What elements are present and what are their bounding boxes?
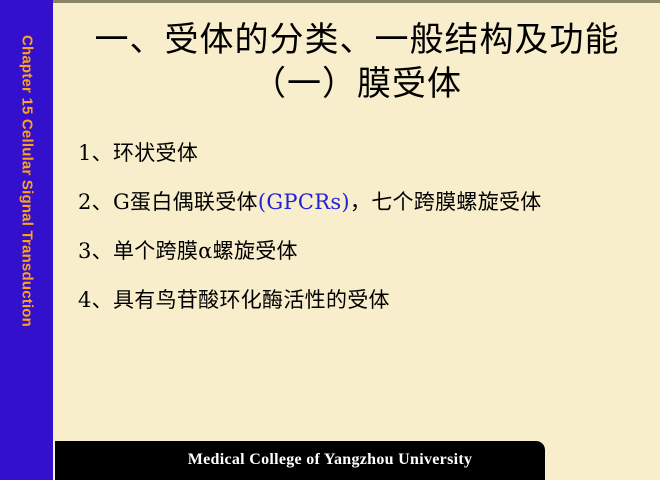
chapter-sidebar-label: Chapter 15 Cellular Signal Transduction bbox=[18, 35, 35, 327]
list-item: 3、单个跨膜α螺旋受体 bbox=[78, 235, 648, 284]
slide-title-line-2: （一）膜受体 bbox=[57, 62, 657, 106]
footer-institution-name: Medical College of Yangzhou University bbox=[55, 441, 545, 480]
list-item: 2、G蛋白偶联受体(GPCRs)，七个跨膜螺旋受体 bbox=[78, 186, 648, 235]
list-item-accent-term: (GPCRs) bbox=[258, 190, 350, 214]
slide-canvas: Chapter 15 Cellular Signal Transduction … bbox=[0, 0, 660, 480]
footer-banner: Medical College of Yangzhou University bbox=[55, 441, 545, 480]
top-border-strip bbox=[53, 0, 660, 3]
slide-title: 一、受体的分类、一般结构及功能 （一）膜受体 bbox=[57, 18, 657, 106]
slide-title-line-1: 一、受体的分类、一般结构及功能 bbox=[57, 18, 657, 62]
list-item-text-prefix: 2、G蛋白偶联受体 bbox=[78, 190, 258, 214]
chapter-sidebar: Chapter 15 Cellular Signal Transduction bbox=[0, 0, 53, 480]
list-item-text-suffix: ，七个跨膜螺旋受体 bbox=[350, 190, 542, 214]
list-item: 1、环状受体 bbox=[78, 137, 648, 186]
content-list: 1、环状受体 2、G蛋白偶联受体(GPCRs)，七个跨膜螺旋受体 3、单个跨膜α… bbox=[78, 137, 648, 333]
list-item: 4、具有鸟苷酸环化酶活性的受体 bbox=[78, 284, 648, 333]
